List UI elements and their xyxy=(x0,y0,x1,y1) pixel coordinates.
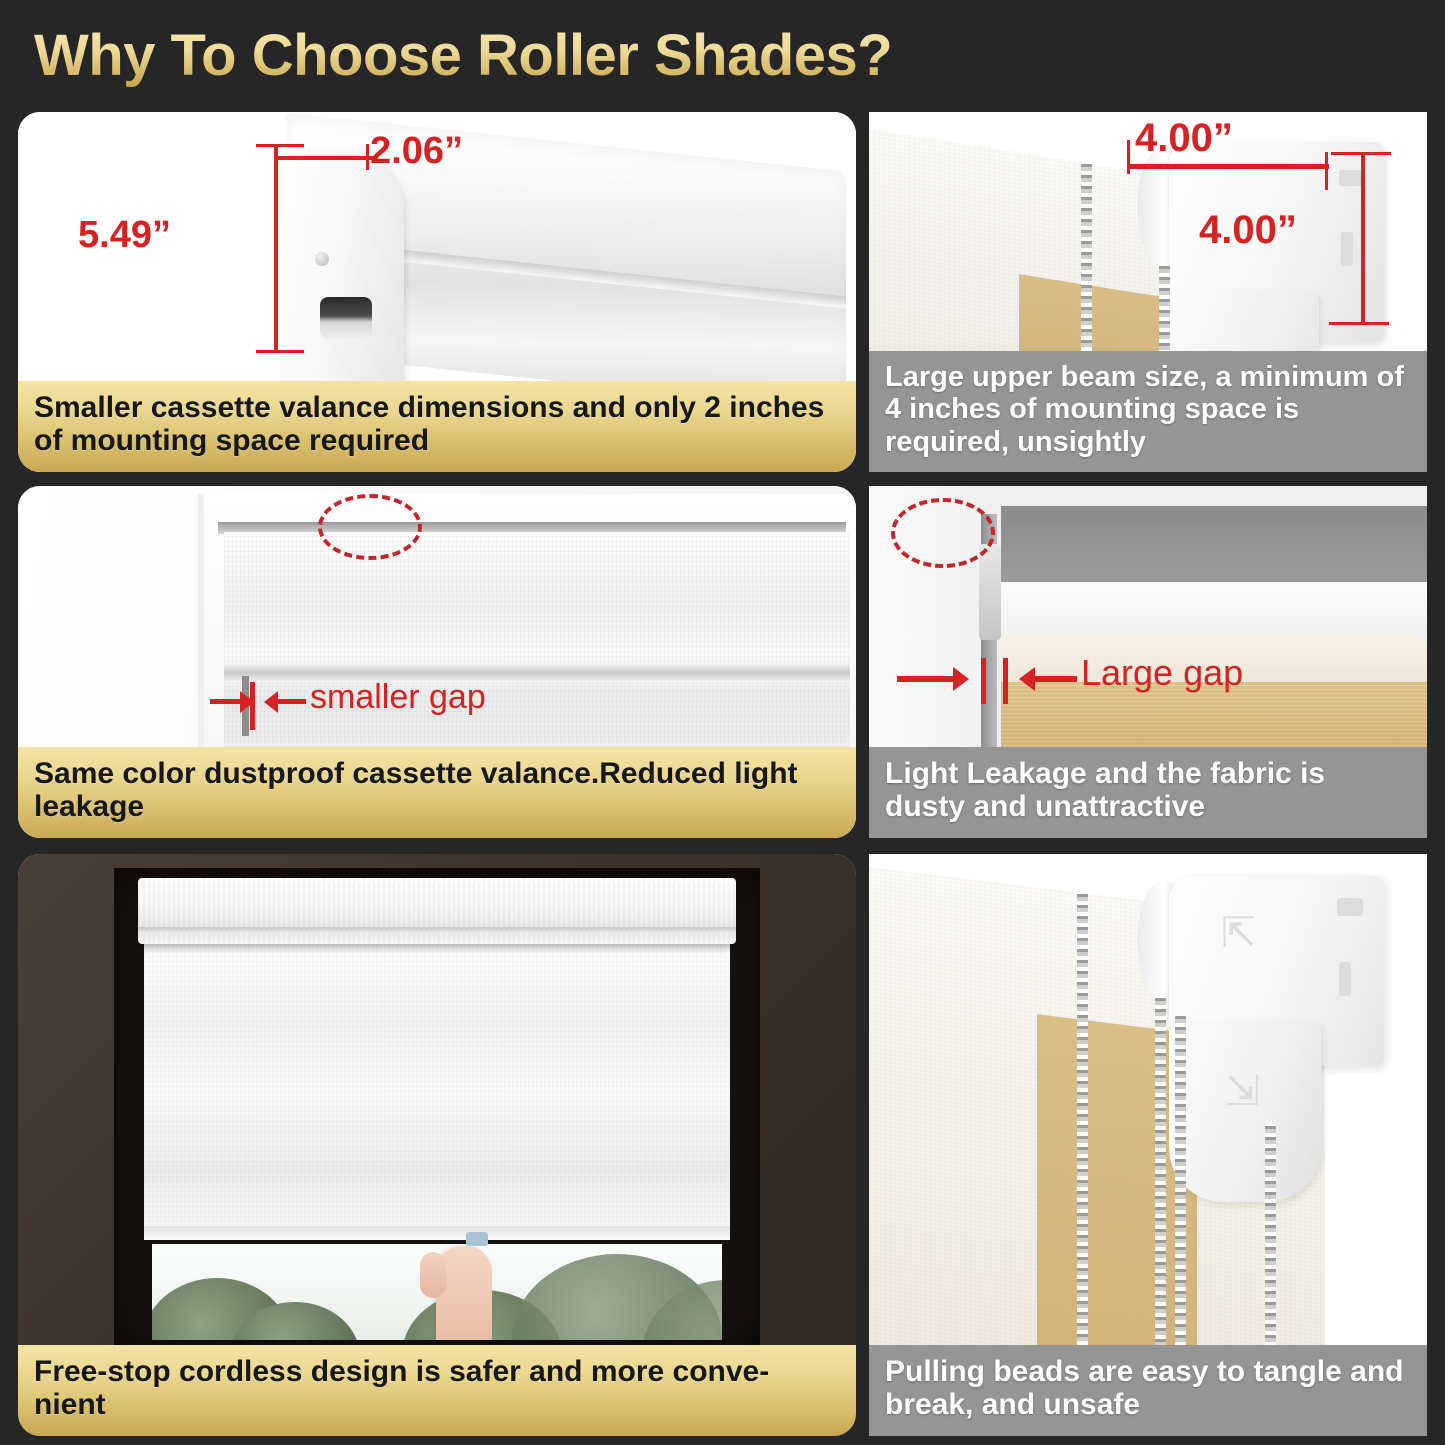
gap-arrow-right-line xyxy=(276,699,306,704)
gap-arrow-right-head xyxy=(264,691,278,713)
bracket-notch-2 xyxy=(1341,232,1353,266)
gap-arrow-left-head xyxy=(240,691,254,713)
gap-arrow-right-head xyxy=(1019,667,1035,691)
highlight-ellipse xyxy=(891,498,995,568)
caption-large-upper-beam: Large upper beam size, a minimum of 4 in… xyxy=(869,351,1427,472)
panel-cassette-valance-dimensions: 2.06” 5.49” Smaller cassette valance dim… xyxy=(18,112,856,472)
cassette-valance xyxy=(138,878,736,944)
caption-free-stop-cordless: Free-stop cordless design is safer and m… xyxy=(18,1345,856,1436)
shade-bottom-rail xyxy=(144,1226,730,1240)
comparison-grid: 2.06” 5.49” Smaller cassette valance dim… xyxy=(0,108,1445,1445)
gap-arrow-left-line xyxy=(897,676,955,682)
shade-fabric xyxy=(224,532,850,782)
caption-dustproof-cassette-valance: Same color dustproof cassette valance.Re… xyxy=(18,747,856,838)
gap-marker-right xyxy=(1003,658,1008,704)
window-glass xyxy=(152,1244,722,1340)
gap-arrow-left-line xyxy=(210,699,242,704)
gap-marker-left xyxy=(981,658,986,704)
dim-line-height xyxy=(274,144,278,352)
shadow-band xyxy=(989,506,1427,588)
highlight-ellipse xyxy=(318,494,422,560)
smaller-gap-label: smaller gap xyxy=(310,678,486,717)
valance-screw-top xyxy=(315,252,329,266)
pull-handle xyxy=(466,1232,488,1246)
beam-width-tick-right xyxy=(1325,152,1328,190)
thumb xyxy=(420,1252,446,1298)
dim-line-width xyxy=(276,156,376,160)
gap-arrow-left-head xyxy=(953,667,969,691)
width-dimension-label: 2.06” xyxy=(370,130,463,173)
beam-width-line xyxy=(1129,164,1329,169)
valance-end-cap xyxy=(282,152,404,392)
dim-tick-right xyxy=(366,144,369,170)
caption-cassette-valance-dimensions: Smaller cassette valance dimensions and … xyxy=(18,381,856,472)
valance-slot xyxy=(320,297,372,339)
panel-pulling-beads: ⇱ ⇲ Pulling beads are easy to tangle and… xyxy=(869,854,1427,1436)
beam-height-cap-bottom xyxy=(1329,322,1389,325)
bracket-emboss-icon-top: ⇱ xyxy=(1221,912,1256,954)
mounting-clip xyxy=(979,544,1001,640)
caption-pulling-beads: Pulling beads are easy to tangle and bre… xyxy=(869,1345,1427,1436)
panel-dustproof-cassette-valance: smaller gap Same color dustproof cassett… xyxy=(18,486,856,838)
beam-height-label: 4.00” xyxy=(1199,208,1297,253)
large-gap-label: Large gap xyxy=(1081,652,1243,694)
roller-shade-fabric xyxy=(144,940,730,1232)
panel-free-stop-cordless: Free-stop cordless design is safer and m… xyxy=(18,854,856,1436)
panel-light-leakage: Large gap Light Leakage and the fabric i… xyxy=(869,486,1427,838)
page-title: Why To Choose Roller Shades? xyxy=(34,22,892,89)
infographic-page: Why To Choose Roller Shades? 2.06” xyxy=(0,0,1445,1445)
panel-large-upper-beam: 4.00” 4.00” Large upper beam size, a min… xyxy=(869,112,1427,472)
beam-width-label: 4.00” xyxy=(1135,116,1233,161)
gap-arrow-right-line xyxy=(1035,676,1077,682)
dim-cap-bottom xyxy=(256,350,304,353)
bracket-notch-1 xyxy=(1337,898,1363,916)
bracket-notch-2 xyxy=(1339,962,1351,996)
height-dimension-label: 5.49” xyxy=(78,214,171,257)
beam-height-line xyxy=(1361,152,1365,324)
dim-cap-top xyxy=(256,144,304,147)
caption-light-leakage: Light Leakage and the fabric is dusty an… xyxy=(869,747,1427,838)
bracket-emboss-icon-bottom: ⇲ xyxy=(1225,1070,1260,1112)
